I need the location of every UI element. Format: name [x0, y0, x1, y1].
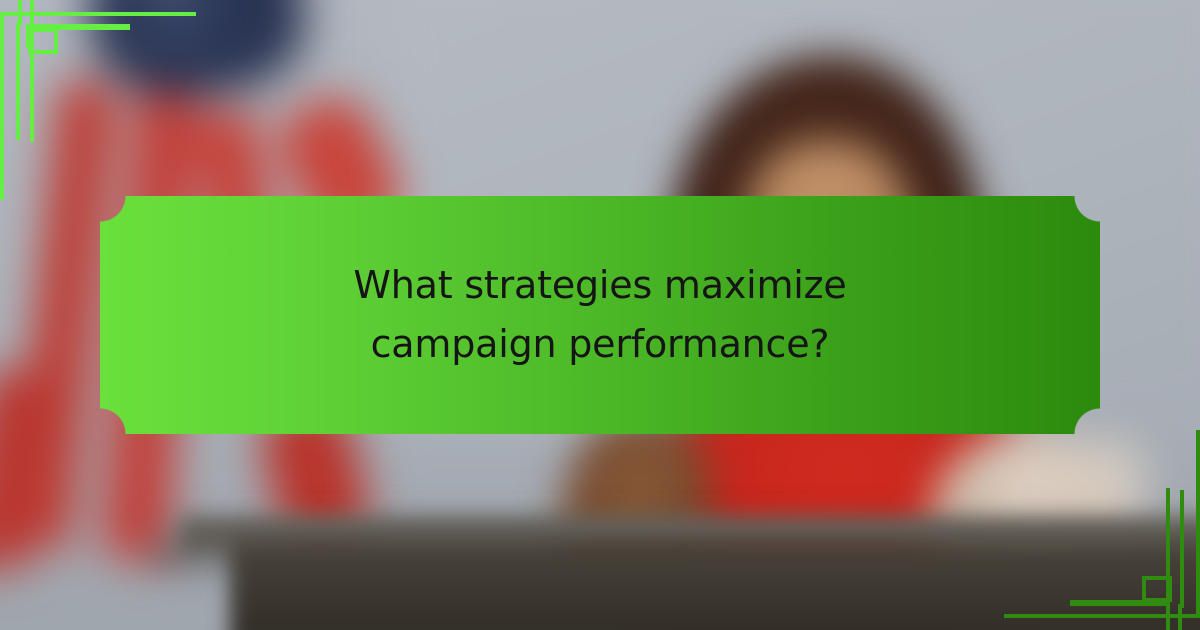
corner-bracket-bottom-right	[1000, 430, 1200, 630]
corner-bracket-top-left	[0, 0, 200, 200]
headline-text: What strategies maximize campaign perfor…	[280, 256, 920, 374]
headline-banner: What strategies maximize campaign perfor…	[100, 196, 1100, 434]
share-card: What strategies maximize campaign perfor…	[0, 0, 1200, 630]
